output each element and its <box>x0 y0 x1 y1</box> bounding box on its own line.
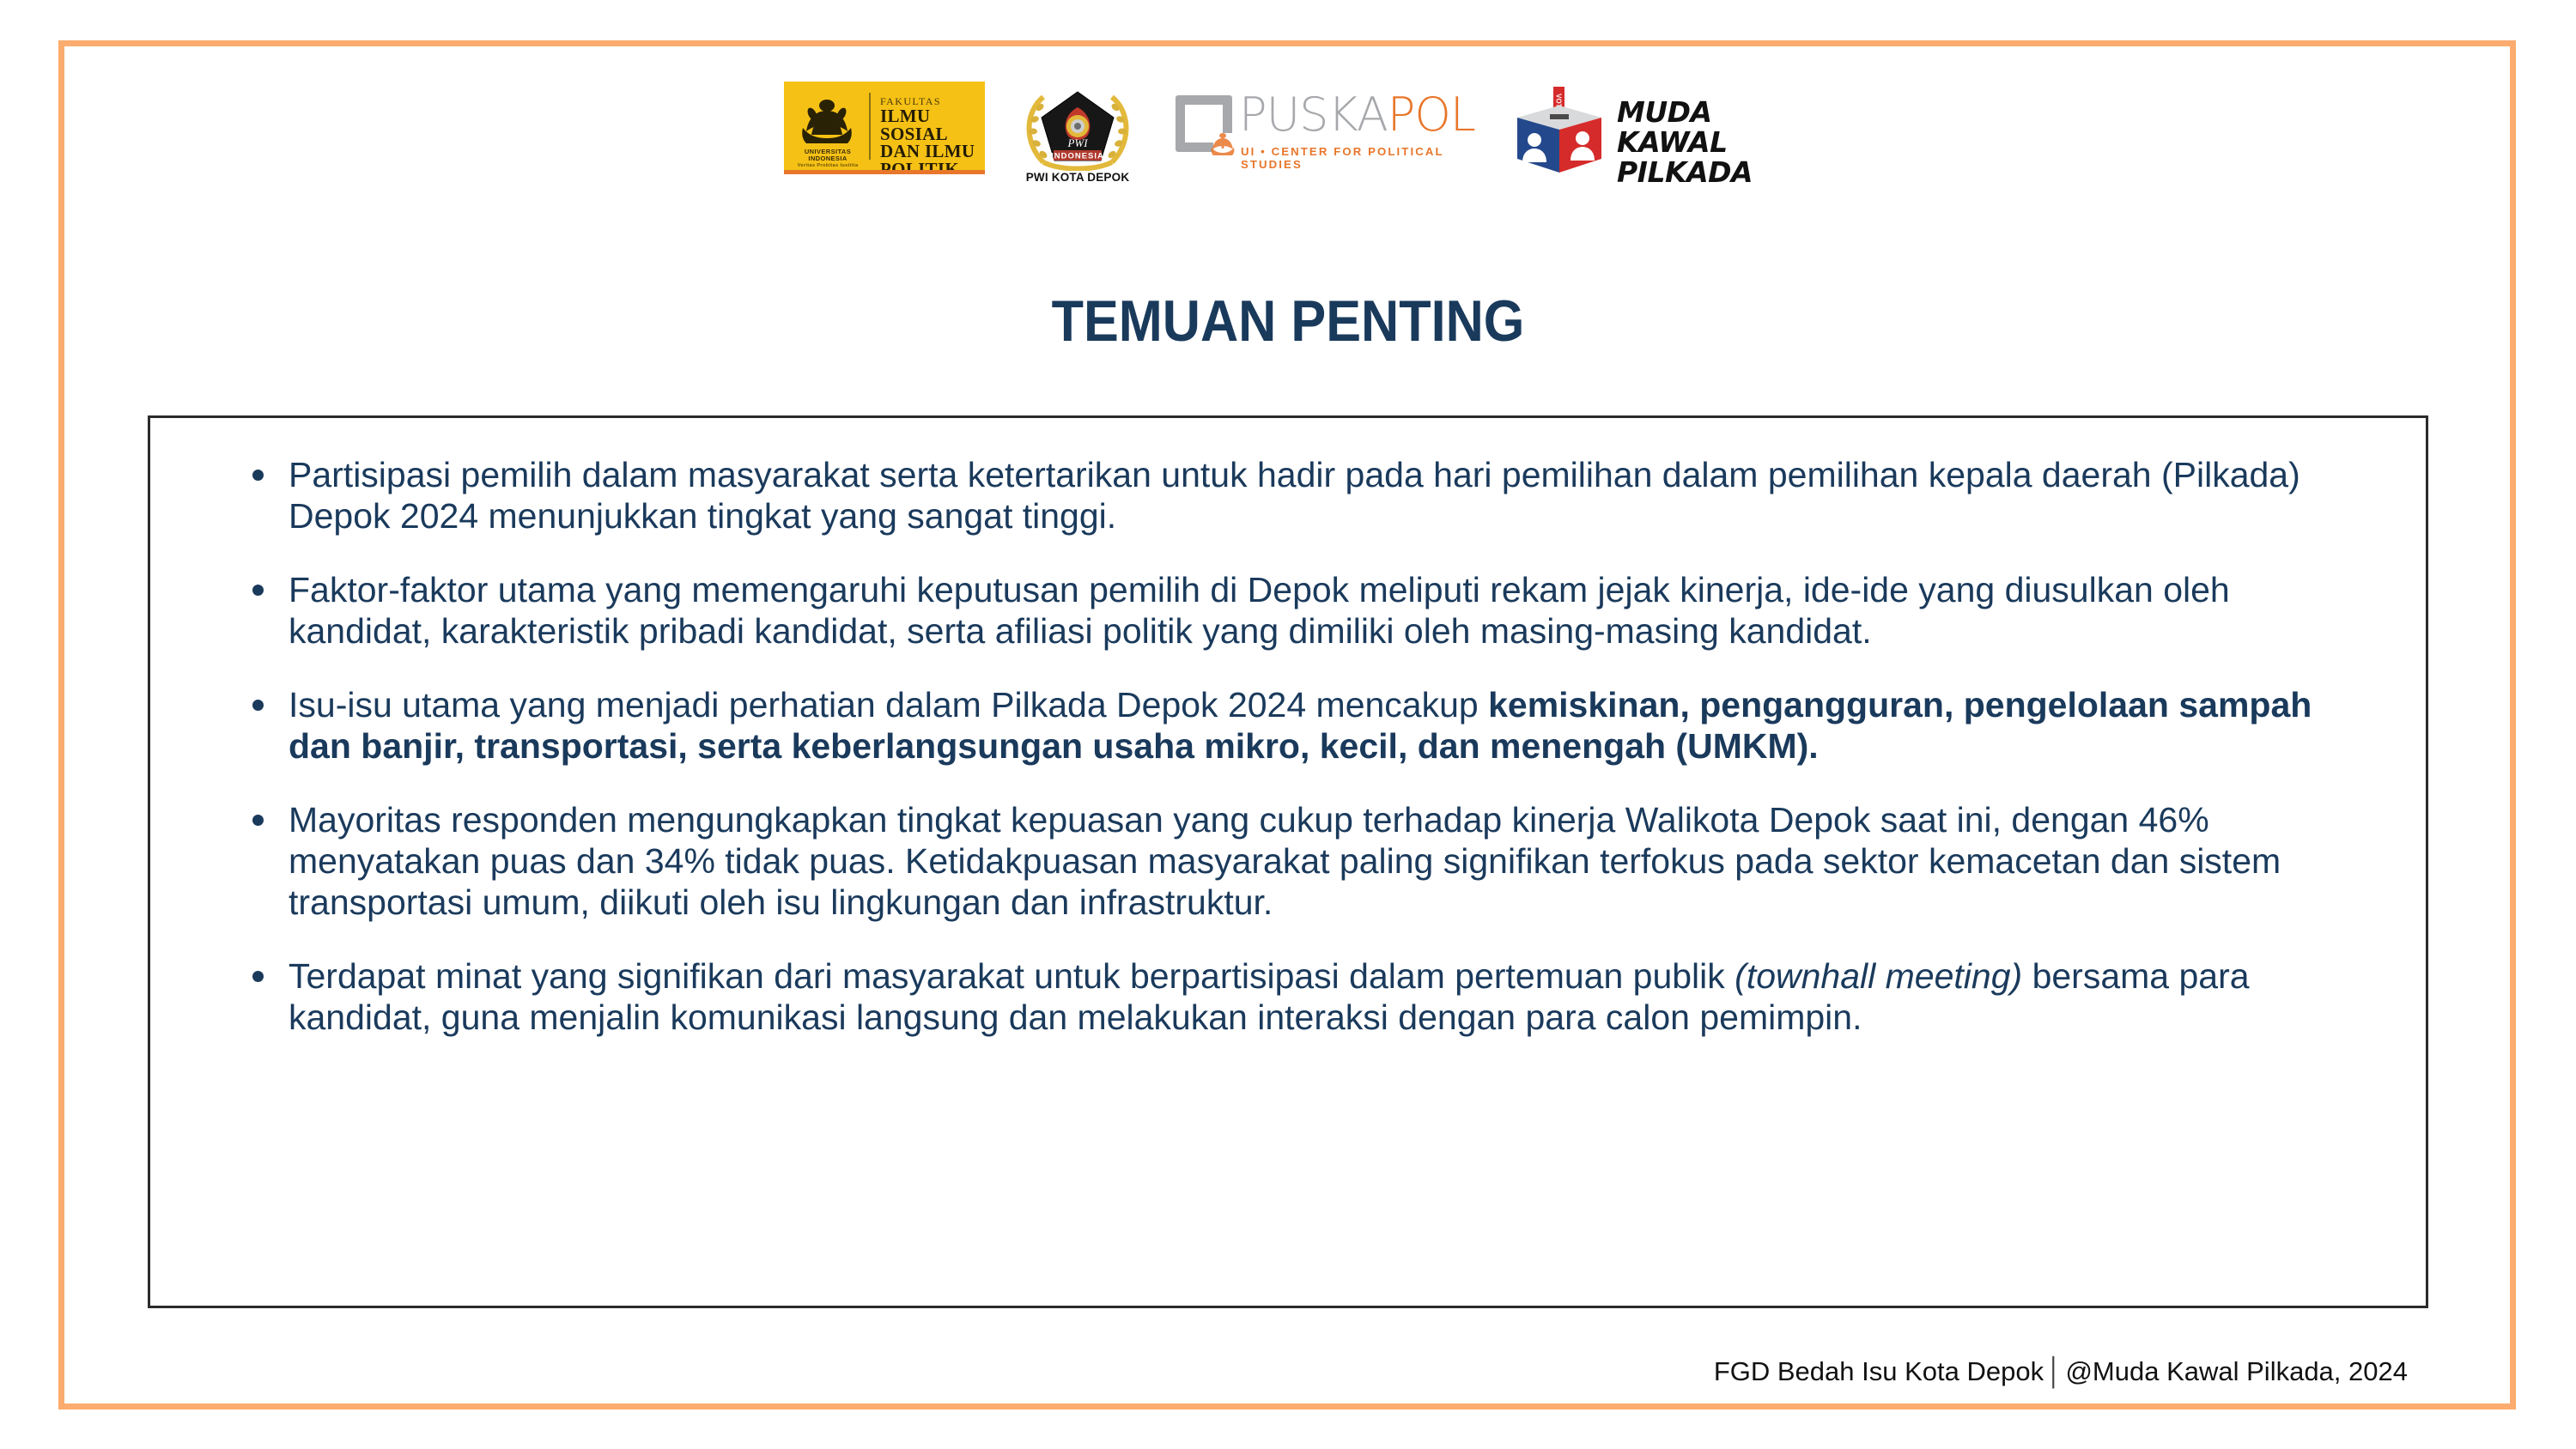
finding-3-text: Isu-isu utama yang menjadi perhatian dal… <box>289 685 2312 766</box>
footer-right-text: @Muda Kawal Pilkada, 2024 <box>2065 1356 2408 1386</box>
fisip-uni-motto: Veritas Probitas Iustitia <box>794 162 861 169</box>
fisip-name-line-2: DAN ILMU <box>880 142 985 161</box>
mkp-wordmark-line-2: PILKADA <box>1617 157 1792 187</box>
footer-left-text: FGD Bedah Isu Kota Depok <box>1714 1356 2044 1386</box>
pwi-kota-depok-logo: PWI INDONESIA PWI KOTA DEPOK <box>1018 82 1138 191</box>
finding-2-text: Faktor-faktor utama yang memengaruhi kep… <box>289 570 2230 651</box>
fisip-name-line-1: ILMU SOSIAL <box>880 107 985 142</box>
fisip-name-block: ILMU SOSIAL DAN ILMU POLITIK <box>880 107 985 174</box>
pwi-crest-initials: PWI <box>1066 136 1088 149</box>
pwi-crest-icon: PWI INDONESIA <box>1018 82 1138 171</box>
list-item: Terdapat minat yang signifikan dari masy… <box>240 955 2379 1038</box>
bullet-dot-icon <box>252 971 264 982</box>
puskapol-wordmark-gray: PUSKA <box>1239 88 1388 142</box>
mkp-wordmark: MUDA KAWAL PILKADA <box>1617 97 1792 187</box>
muda-kawal-pilkada-logo: VOTE MUDA KAWAL PILKADA <box>1509 82 1792 176</box>
bullet-dot-icon <box>252 585 264 596</box>
mkp-wordmark-line-1: MUDA KAWAL <box>1617 97 1792 157</box>
ballot-box-icon: VOTE <box>1509 87 1610 173</box>
page-title: TEMUAN PENTING <box>129 288 2447 355</box>
finding-5-italic-term: (townhall meeting) <box>1735 956 2022 996</box>
slide-root: UNIVERSITAS INDONESIA Veritas Probitas I… <box>0 0 2576 1449</box>
fisip-uni-line-2: INDONESIA <box>794 155 861 162</box>
bullet-dot-icon <box>252 470 264 481</box>
logo-strip: UNIVERSITAS INDONESIA Veritas Probitas I… <box>0 82 2576 193</box>
puskapol-subtitle: UI • CENTER FOR POLITICAL STUDIES <box>1241 145 1476 171</box>
fisip-university-text: UNIVERSITAS INDONESIA Veritas Probitas I… <box>794 149 861 169</box>
puskapol-wordmark-orange: POL <box>1388 88 1475 142</box>
list-item: Isu-isu utama yang menjadi perhatian dal… <box>240 684 2379 767</box>
fisip-ui-logo: UNIVERSITAS INDONESIA Veritas Probitas I… <box>784 82 985 174</box>
pwi-crest-country: INDONESIA <box>1051 152 1104 161</box>
bullet-dot-icon <box>252 700 264 711</box>
fisip-divider <box>869 93 871 160</box>
finding-4-text: Mayoritas responden mengungkapkan tingka… <box>289 800 2281 922</box>
puskapol-ui-logo: PUSKAPOL UI • CENTER FOR POLITICAL STUDI… <box>1170 82 1476 171</box>
findings-list: Partisipasi pemilih dalam masyarakat ser… <box>240 454 2379 1038</box>
finding-5-text: Terdapat minat yang signifikan dari masy… <box>289 956 2250 1037</box>
finding-1-text: Partisipasi pemilih dalam masyarakat ser… <box>289 455 2300 536</box>
list-item: Mayoritas responden mengungkapkan tingka… <box>240 799 2379 923</box>
puskapol-makara-icon <box>1210 131 1236 157</box>
findings-panel: Partisipasi pemilih dalam masyarakat ser… <box>148 415 2428 1308</box>
footer-separator: │ <box>2044 1356 2065 1386</box>
fisip-accent-bar <box>784 170 985 174</box>
pwi-logo-caption: PWI KOTA DEPOK <box>1018 171 1138 184</box>
makara-ui-emblem <box>796 94 858 147</box>
list-item: Partisipasi pemilih dalam masyarakat ser… <box>240 454 2379 537</box>
list-item: Faktor-faktor utama yang memengaruhi kep… <box>240 569 2379 652</box>
bullet-dot-icon <box>252 815 264 826</box>
footer-credit: FGD Bedah Isu Kota Depok│@Muda Kawal Pil… <box>1714 1356 2408 1387</box>
puskapol-wordmark: PUSKAPOL <box>1239 92 1475 138</box>
